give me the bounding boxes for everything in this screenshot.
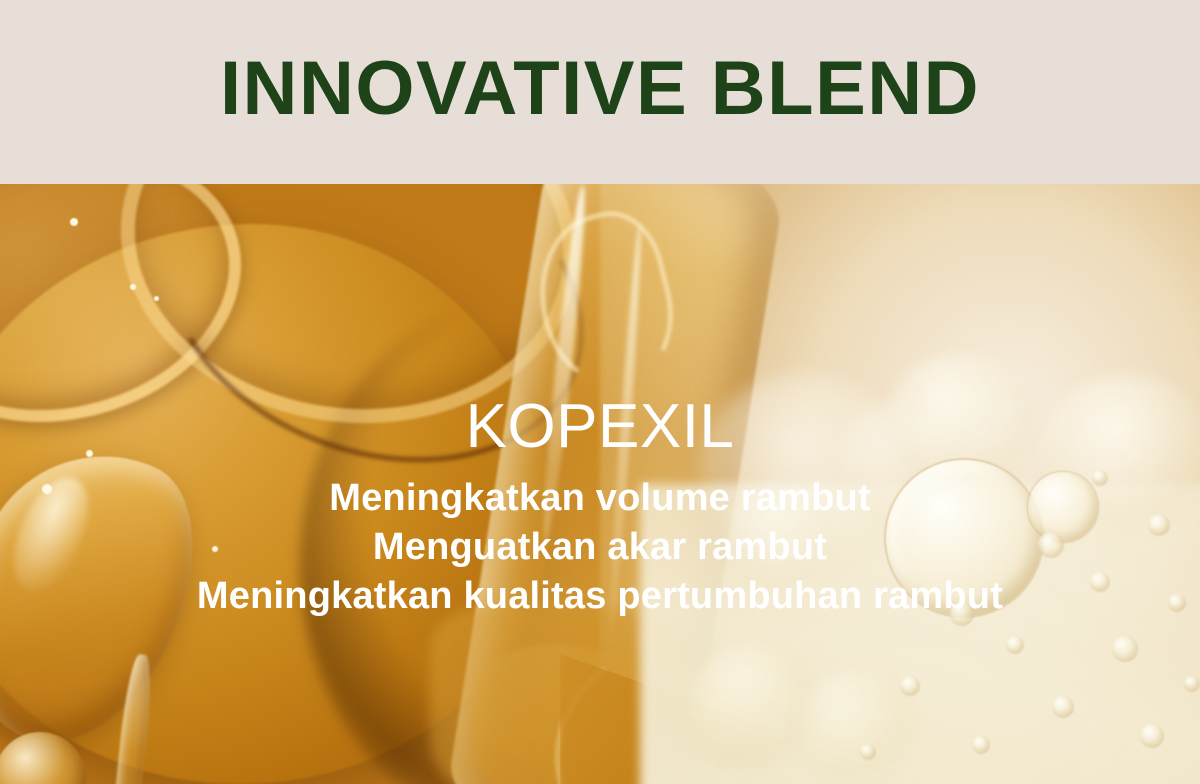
highlight-spark-1 [70,218,78,226]
header-band: INNOVATIVE BLEND [0,0,1200,184]
bubble-mini-12 [1184,676,1200,692]
header-title: INNOVATIVE BLEND [0,0,1200,184]
highlight-spark-5 [86,450,93,457]
bubble-mini-2 [1090,572,1110,592]
innovative-blend-banner: INNOVATIVE BLEND [0,0,1200,784]
bubble-mini-8 [900,676,920,696]
highlight-spark-6 [212,546,218,552]
bubble-mini-7 [1168,594,1186,612]
highlight-spark-2 [130,284,136,290]
bubble-mini-10 [1140,724,1164,748]
bubble-main [886,460,1042,616]
bubble-mini-11 [972,736,990,754]
bubble-bottom-b [796,670,914,782]
bubble-soft-5 [728,484,828,580]
bubble-mini-5 [1006,636,1024,654]
bubble-mini-4 [950,602,974,626]
bubble-mini-13 [860,744,876,760]
bubble-mini-6 [1112,636,1138,662]
highlight-spark-3 [154,296,159,301]
hero-oil-photo [0,184,1200,784]
bubble-small [1028,472,1098,542]
bubble-mini-1 [1038,532,1064,558]
bubble-mini-3 [1148,514,1170,536]
highlight-spark-4 [42,484,52,494]
bubble-mini-9 [1052,696,1074,718]
oil-shapes-layer [0,184,1200,784]
bubble-mini-14 [1092,470,1108,486]
